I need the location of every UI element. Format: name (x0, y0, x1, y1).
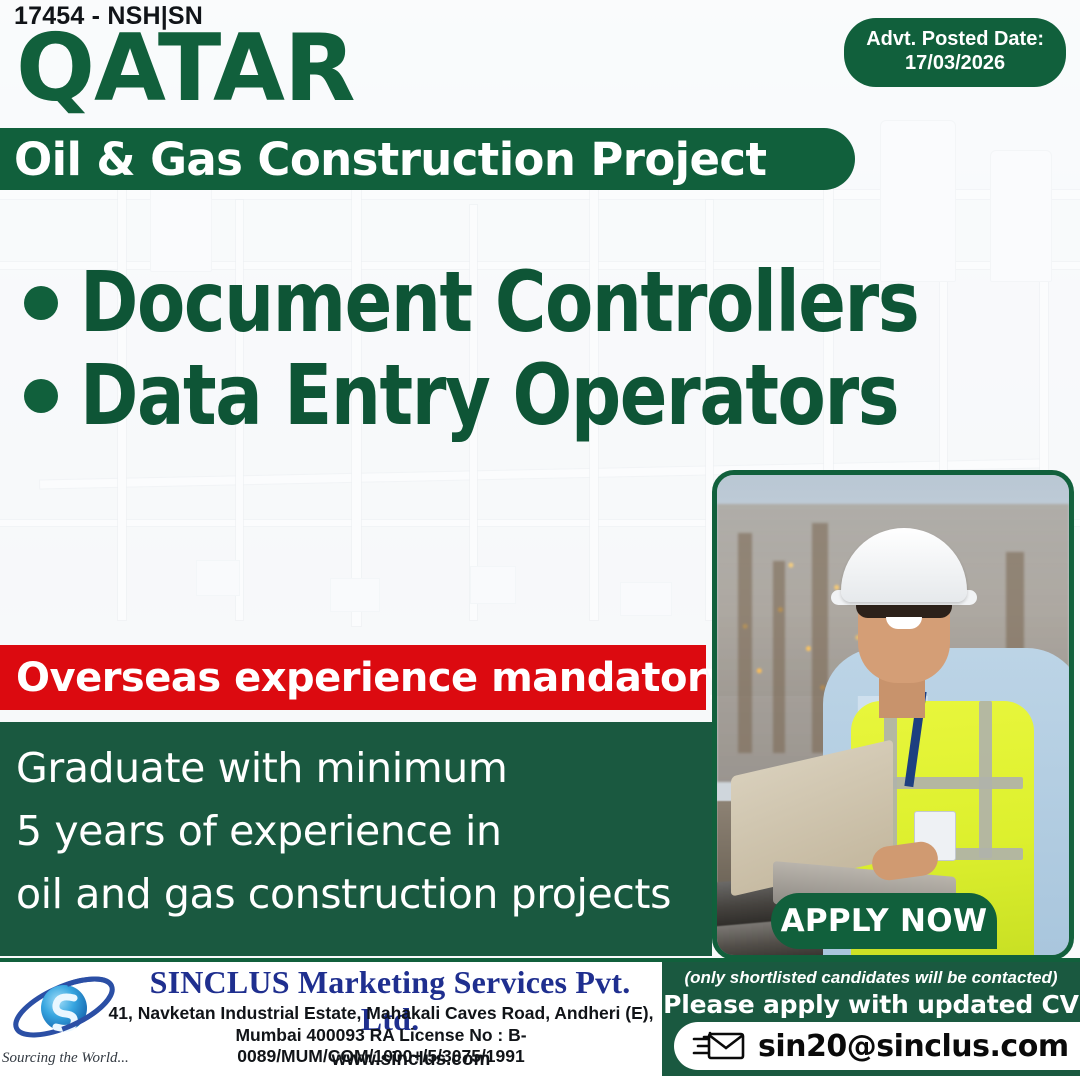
apply-now-label: APPLY NOW (781, 903, 988, 939)
list-item: Data Entry Operators (18, 351, 1068, 440)
company-address-line-1: 41, Navketan Industrial Estate, Mahakali… (100, 1003, 662, 1024)
page-title-country: QATAR (16, 22, 355, 115)
requirement-line: Graduate with minimum (0, 748, 712, 789)
project-type-label: Oil & Gas Construction Project (0, 133, 766, 186)
job-positions-list: Document Controllers Data Entry Operator… (18, 258, 1068, 444)
requirement-line: 5 years of experience in (0, 811, 712, 852)
job-advertisement-poster: 17454 - NSH|SN QATAR Advt. Posted Date: … (0, 0, 1080, 1080)
company-website[interactable]: www.sinclus.com (160, 1049, 662, 1071)
mandatory-requirement-text: Overseas experience mandatory (0, 655, 732, 701)
requirement-line: oil and gas construction projects (0, 874, 712, 915)
job-title: Data Entry Operators (80, 351, 898, 440)
envelope-icon (692, 1028, 746, 1064)
job-title: Document Controllers (80, 258, 918, 347)
list-item: Document Controllers (18, 258, 1068, 347)
shortlist-note: (only shortlisted candidates will be con… (662, 968, 1080, 988)
worker-photo (712, 470, 1074, 960)
posted-date-label: Advt. Posted Date: (866, 27, 1044, 51)
project-type-banner: Oil & Gas Construction Project (0, 128, 855, 190)
company-tagline: Sourcing the World... (2, 1050, 129, 1067)
apply-now-button[interactable]: APPLY NOW (771, 893, 997, 949)
company-info-panel: SINCLUS Marketing Services Pvt. Ltd. 41,… (0, 962, 662, 1076)
posted-date-badge: Advt. Posted Date: 17/03/2026 (844, 18, 1066, 87)
bullet-icon (24, 286, 58, 320)
posted-date-value: 17/03/2026 (866, 51, 1044, 75)
application-contact-panel: (only shortlisted candidates will be con… (662, 962, 1080, 1076)
mandatory-requirement-banner: Overseas experience mandatory (0, 645, 706, 710)
requirements-panel: Graduate with minimum 5 years of experie… (0, 722, 712, 956)
bullet-icon (24, 379, 58, 413)
email-contact-pill[interactable]: sin20@sinclus.com (674, 1022, 1080, 1070)
footer: SINCLUS Marketing Services Pvt. Ltd. 41,… (0, 958, 1080, 1080)
contact-email-address: sin20@sinclus.com (758, 1029, 1069, 1064)
